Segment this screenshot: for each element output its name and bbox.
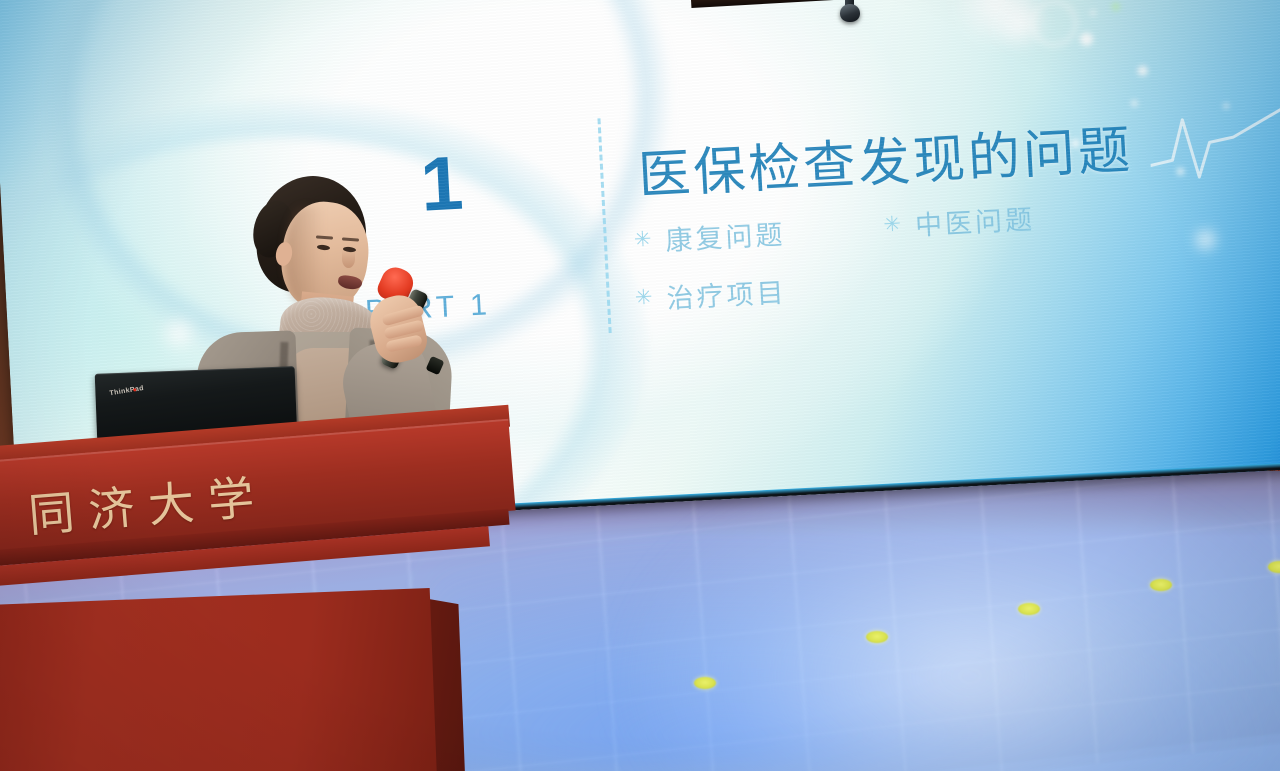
floor-marker	[866, 631, 888, 643]
speaker-nose	[342, 250, 355, 268]
ceiling-spotlight-head	[840, 4, 860, 22]
floor-marker	[694, 677, 716, 689]
lectern: 上海蓝十字脑科医院 SHANGHAI BLUE CROSS BRAIN HOSP…	[0, 418, 530, 771]
floor-marker	[1150, 579, 1172, 591]
lectern-body: 上海蓝十字脑科医院 SHANGHAI BLUE CROSS BRAIN HOSP…	[0, 588, 437, 771]
floor-light-glow	[620, 461, 1280, 771]
floor-marker	[1018, 603, 1040, 615]
photo-scene: 1 PART 1 医保检查发现的问题 ✳ 康复问题 ✳ 中医问题 ✳ 治疗项目	[0, 0, 1280, 771]
